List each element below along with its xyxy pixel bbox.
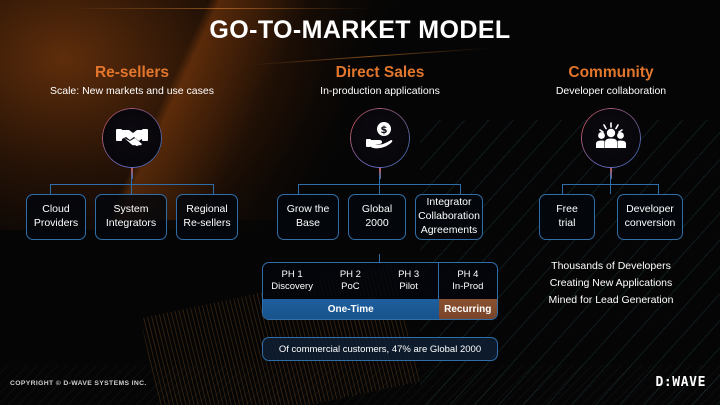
icon-circle-resellers bbox=[102, 108, 162, 168]
node-box[interactable]: Grow theBase bbox=[277, 194, 339, 240]
phase-name: Discovery bbox=[271, 281, 313, 292]
bullet-item: Thousands of Developers bbox=[510, 258, 712, 275]
copyright-text: COPYRIGHT © D-WAVE SYSTEMS INC. bbox=[10, 380, 147, 387]
phase-id: PH 4 bbox=[457, 269, 478, 280]
column-subtitle-community: Developer collaboration bbox=[510, 85, 712, 97]
box-row-direct-sales: Grow theBase Global2000 IntegratorCollab… bbox=[262, 194, 498, 240]
connector-horizontal bbox=[298, 184, 460, 185]
icon-wrap-resellers bbox=[8, 108, 256, 168]
band-recurring[interactable]: Recurring bbox=[439, 299, 498, 319]
box-row-community: Freetrial Developerconversion bbox=[510, 194, 712, 240]
people-group-icon bbox=[595, 122, 627, 155]
connector-vertical bbox=[298, 184, 299, 194]
slide-canvas: GO-TO-MARKET MODEL Re-sellers Scale: New… bbox=[0, 0, 720, 405]
dwave-logo: D:WAVE bbox=[655, 375, 706, 390]
connector-group-community bbox=[510, 168, 712, 194]
phase-name: PoC bbox=[341, 281, 359, 292]
connector-vertical bbox=[658, 184, 659, 194]
band-one-time[interactable]: One-Time bbox=[263, 299, 439, 319]
phase-name: Pilot bbox=[399, 281, 417, 292]
node-box[interactable]: SystemIntegrators bbox=[95, 194, 167, 240]
phase-cell[interactable]: PH 4In-Prod bbox=[438, 263, 497, 299]
icon-wrap-direct-sales: $ bbox=[262, 108, 498, 168]
node-box[interactable]: RegionalRe-sellers bbox=[176, 194, 238, 240]
page-title: GO-TO-MARKET MODEL bbox=[0, 16, 720, 45]
phase-id: PH 2 bbox=[340, 269, 361, 280]
phase-id: PH 1 bbox=[282, 269, 303, 280]
column-title-direct-sales: Direct Sales bbox=[262, 64, 498, 82]
phase-row: PH 1Discovery PH 2PoC PH 3Pilot PH 4In-P… bbox=[263, 263, 497, 299]
phase-id: PH 3 bbox=[398, 269, 419, 280]
connector-group-resellers bbox=[8, 168, 256, 194]
light-streak bbox=[70, 8, 370, 9]
connector-vertical bbox=[460, 184, 461, 194]
icon-wrap-community bbox=[510, 108, 712, 168]
column-title-community: Community bbox=[510, 64, 712, 82]
column-subtitle-direct-sales: In-production applications bbox=[262, 85, 498, 97]
svg-text:$: $ bbox=[381, 125, 388, 136]
node-box[interactable]: Developerconversion bbox=[617, 194, 683, 240]
node-box[interactable]: Global2000 bbox=[348, 194, 406, 240]
column-title-resellers: Re-sellers bbox=[8, 64, 256, 82]
phase-name: In-Prod bbox=[452, 281, 483, 292]
connector-vertical bbox=[131, 178, 132, 194]
handshake-icon bbox=[115, 123, 149, 154]
box-row-resellers: CloudProviders SystemIntegrators Regiona… bbox=[8, 194, 256, 240]
bullet-item: Mined for Lead Generation bbox=[510, 292, 712, 309]
connector-horizontal bbox=[562, 184, 658, 185]
node-box[interactable]: Freetrial bbox=[539, 194, 595, 240]
column-direct-sales: Direct Sales In-production applications … bbox=[262, 64, 498, 240]
column-subtitle-resellers: Scale: New markets and use cases bbox=[8, 85, 256, 97]
community-bullet-list: Thousands of Developers Creating New App… bbox=[510, 258, 712, 309]
connector-group-direct-sales bbox=[262, 168, 498, 194]
icon-circle-community bbox=[581, 108, 641, 168]
connector-vertical bbox=[562, 184, 563, 194]
bullet-item: Creating New Applications bbox=[510, 275, 712, 292]
connector-vertical bbox=[610, 178, 611, 194]
phase-cell[interactable]: PH 3Pilot bbox=[380, 263, 438, 299]
node-box[interactable]: IntegratorCollaborationAgreements bbox=[415, 194, 483, 240]
phase-cell[interactable]: PH 2PoC bbox=[321, 263, 379, 299]
column-community: Community Developer collaboration bbox=[510, 64, 712, 309]
connector-vertical bbox=[213, 184, 214, 194]
connector-vertical bbox=[50, 184, 51, 194]
column-resellers: Re-sellers Scale: New markets and use ca… bbox=[8, 64, 256, 240]
phase-table: PH 1Discovery PH 2PoC PH 3Pilot PH 4In-P… bbox=[262, 262, 498, 320]
revenue-band-row: One-Time Recurring bbox=[263, 299, 497, 319]
icon-circle-direct-sales: $ bbox=[350, 108, 410, 168]
statistic-note: Of commercial customers, 47% are Global … bbox=[262, 337, 498, 361]
connector-vertical bbox=[379, 178, 380, 194]
connector-horizontal bbox=[50, 184, 213, 185]
phase-cell[interactable]: PH 1Discovery bbox=[263, 263, 321, 299]
light-streak bbox=[250, 48, 489, 66]
node-box[interactable]: CloudProviders bbox=[26, 194, 86, 240]
hand-holding-coin-icon: $ bbox=[364, 121, 396, 156]
